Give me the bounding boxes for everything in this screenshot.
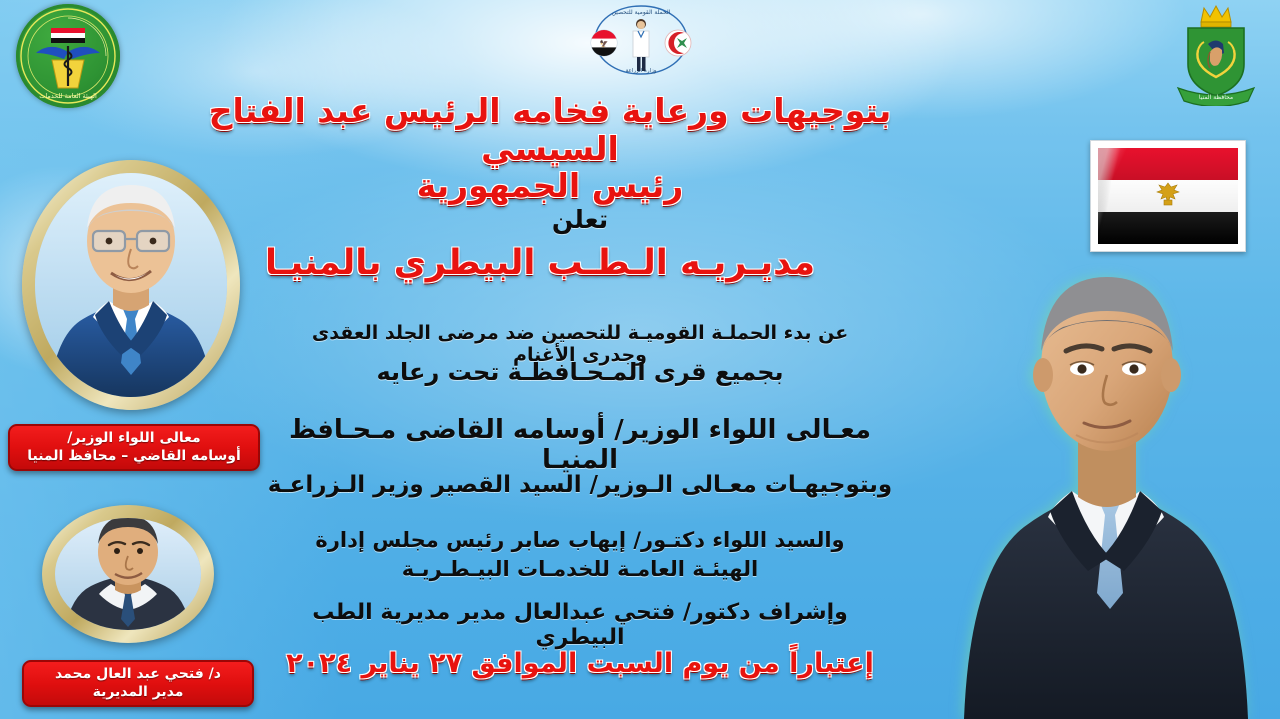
governor-badge-title: معالى اللواء الوزير/	[16, 430, 252, 448]
svg-text:الهيئة العامة للخدمات: الهيئة العامة للخدمات	[39, 92, 97, 100]
svg-text:🦅: 🦅	[600, 39, 609, 48]
minya-governorate-emblem: محافظة المنيا	[1166, 2, 1266, 106]
body-line-5: والسيد اللواء دكتـور/ إيهاب صابر رئيس مج…	[270, 528, 890, 552]
director-portrait-photo	[42, 505, 214, 643]
svg-text:محافظة المنيا: محافظة المنيا	[1199, 94, 1233, 101]
headline-line-1: بتوجيهات ورعاية فخامه الرئيس عبد الفتاح …	[150, 92, 950, 167]
body-line-6: الهيئـة العامـة للخدمـات البيـطـريـة	[270, 557, 890, 581]
veterinary-services-authority-logo: الهيئة العامة للخدمات	[16, 4, 120, 108]
director-name-badge: د/ فتحي عبد العال محمد مدير المديرية	[22, 660, 254, 707]
president-el-sisi-photo	[924, 199, 1280, 719]
governor-badge-name: أوسامه القاضي – محافظ المنيا	[16, 448, 252, 466]
svg-text:الحملة القومية للتحصين: الحملة القومية للتحصين	[612, 9, 671, 16]
body-line-7: وإشراف دكتور/ فتحي عبدالعال مدير مديرية …	[280, 600, 880, 650]
governor-name-badge: معالى اللواء الوزير/ أوسامه القاضي – محا…	[8, 424, 260, 471]
body-line-3: معـالى اللواء الوزير/ أوسامه القاضى مـحـ…	[250, 415, 910, 475]
directorate-name: مديـريـه الـطـب البيطري بالمنيـا	[230, 243, 850, 283]
svg-text:وزارة الزراعة: وزارة الزراعة	[626, 68, 657, 74]
headline-line-2: رئيس الجمهورية	[150, 167, 950, 205]
announce-verb: تعلن	[400, 205, 760, 234]
director-badge-name: د/ فتحي عبد العال محمد	[30, 666, 246, 684]
announcement-poster: الهيئة العامة للخدمات الحملة القومية للت…	[0, 0, 1280, 719]
national-vaccination-campaign-logo: الحملة القومية للتحصين وزارة الزراعة 🦅	[578, 2, 704, 76]
headline-block: بتوجيهات ورعاية فخامه الرئيس عبد الفتاح …	[150, 92, 950, 205]
director-badge-title: مدير المديرية	[30, 684, 246, 702]
body-line-2: بجميع قرى المـحـافظـة تحت رعايه	[300, 358, 860, 386]
body-line-4: وبتوجيهـات معـالى الـوزير/ السيد القصير …	[250, 472, 910, 498]
start-date-line: إعتباراً من يوم السبت الموافق ٢٧ يناير ٢…	[250, 648, 910, 679]
